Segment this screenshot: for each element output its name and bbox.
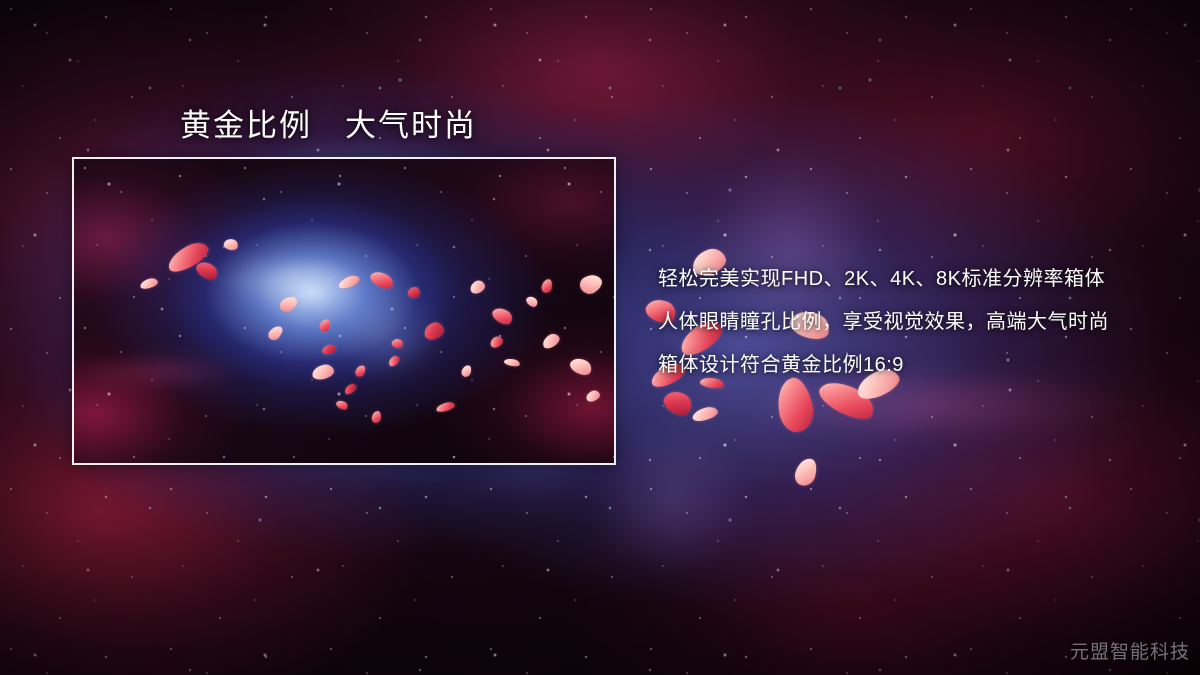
showcase-frame	[72, 157, 616, 465]
body-line-2: 人体眼睛瞳孔比例，享受视觉效果，高端大气时尚	[658, 301, 1178, 344]
page-title: 黄金比例 大气时尚	[180, 100, 477, 145]
body-copy-block: 轻松完美实现FHD、2K、4K、8K标准分辨率箱体 人体眼睛瞳孔比例，享受视觉效…	[658, 258, 1178, 387]
body-line-1: 轻松完美实现FHD、2K、4K、8K标准分辨率箱体	[658, 258, 1178, 301]
frame-starfield-medium-icon	[74, 159, 614, 463]
slide-root: 黄金比例 大气时尚 轻松完美实现FHD、2K、4K、8K标准分辨率箱体 人体眼睛…	[0, 0, 1200, 675]
watermark: 元盟智能科技	[1070, 637, 1190, 664]
body-line-3: 箱体设计符合黄金比例16:9	[658, 344, 1178, 387]
